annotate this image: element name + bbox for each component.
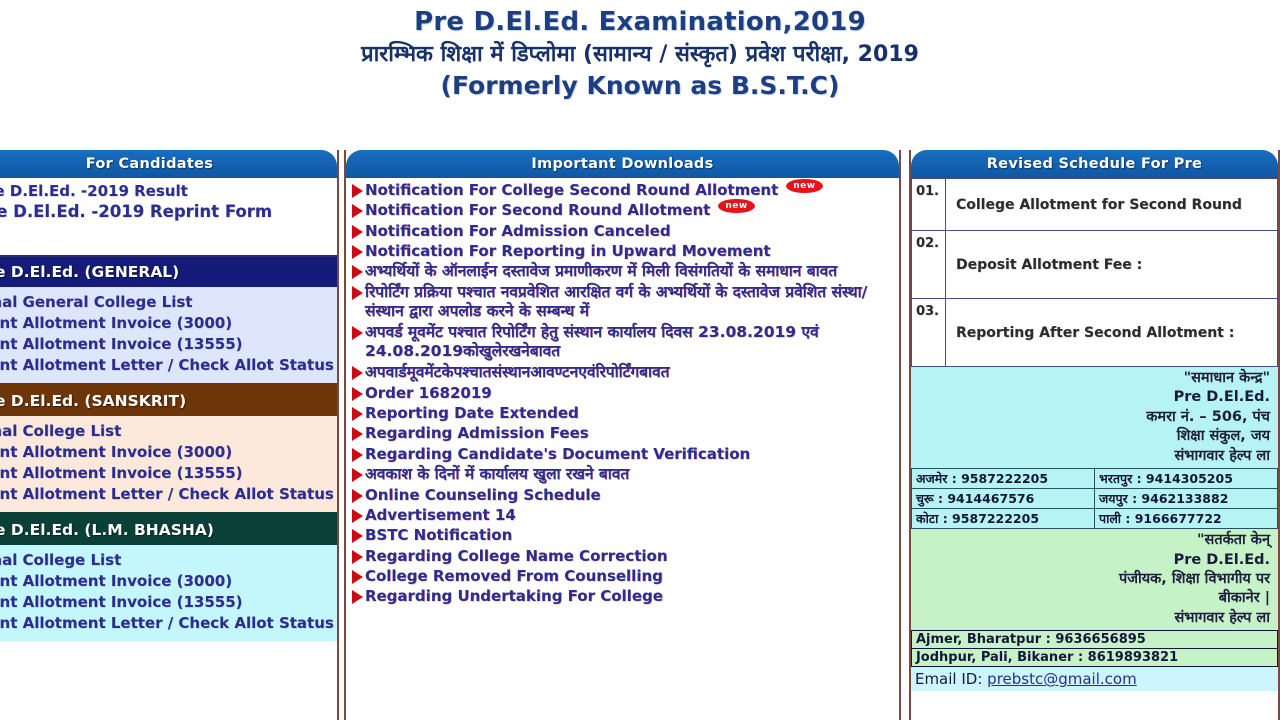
site-header: Pre D.El.Ed. Examination,2019 प्रारम्भिक…	[0, 0, 1280, 103]
list-item[interactable]: रिपोर्टिंग प्रक्रिया पश्चात नवप्रवेशित आ…	[352, 282, 899, 322]
candidate-top-links: Pre D.El.Ed. -2019 Result Pre D.El.Ed. -…	[0, 178, 337, 257]
triangle-bullet-icon	[352, 529, 363, 543]
download-link[interactable]: Online Counseling Schedule	[365, 486, 601, 504]
table-row: अजमेर : 9587222205 भरतपुर : 9414305205	[911, 469, 1277, 489]
list-item[interactable]: अवकाश के दिनों में कार्यालय खुला रखने बा…	[352, 464, 899, 485]
link-result[interactable]: Pre D.El.Ed. -2019 Result	[0, 181, 337, 201]
group-header-lm-bhasha: Pre D.El.Ed. (L.M. BHASHA)	[0, 515, 337, 545]
panel-header-revised-schedule: Revised Schedule For Pre	[911, 150, 1278, 178]
download-link[interactable]: Notification For College Second Round Al…	[365, 181, 778, 199]
list-item[interactable]: Notification For Reporting in Upward Mov…	[352, 241, 899, 261]
list-item[interactable]: Online Counseling Schedule	[352, 485, 899, 505]
schedule-table: 01. College Allotment for Second Round 0…	[911, 178, 1278, 367]
vigilance-center-exam: Pre D.El.Ed.	[915, 551, 1270, 570]
solution-center-title: "समाधान केन्द्र"	[915, 369, 1270, 388]
email-label: Email ID:	[915, 670, 982, 688]
page-title-hindi: प्रारम्भिक शिक्षा में डिप्लोमा (सामान्य …	[0, 40, 1280, 70]
helpline-cell: जयपुर : 9462133882	[1094, 489, 1277, 509]
triangle-bullet-icon	[352, 590, 363, 604]
panel-revised-schedule: Revised Schedule For Pre 01. College All…	[909, 150, 1280, 720]
list-item[interactable]: Regarding Admission Fees	[352, 423, 899, 443]
download-link[interactable]: अपवार्डमूवमेंटकेपश्चातसंस्थानआवण्टनएवंरि…	[365, 363, 670, 382]
list-item[interactable]: Notification For Admission Canceled	[352, 221, 899, 241]
page-title-english: Pre D.El.Ed. Examination,2019	[0, 6, 1280, 39]
triangle-bullet-icon	[352, 387, 363, 401]
download-link[interactable]: Notification For Reporting in Upward Mov…	[365, 242, 771, 260]
list-item[interactable]: Regarding Candidate's Document Verificat…	[352, 444, 899, 464]
solution-center-helpline-label: संभागवार हेल्प ला	[915, 447, 1270, 466]
list-item[interactable]: College Removed From Counselling	[352, 566, 899, 586]
download-link[interactable]: College Removed From Counselling	[365, 567, 663, 585]
schedule-desc: College Allotment for Second Round	[945, 179, 1277, 231]
new-badge-icon: new	[786, 179, 822, 193]
table-row: Ajmer, Bharatpur : 9636656895	[911, 631, 1277, 649]
link-sanskrit-invoice-3000[interactable]: Print Allotment Invoice (3000)	[0, 441, 337, 462]
download-link[interactable]: Regarding Undertaking For College	[365, 587, 663, 605]
triangle-bullet-icon	[352, 245, 363, 259]
triangle-bullet-icon	[352, 225, 363, 239]
triangle-bullet-icon	[352, 204, 363, 218]
vigilance-center-title: "सतर्कता केन्	[915, 531, 1270, 550]
vigilance-center-box: "सतर्कता केन् Pre D.El.Ed. पंजीयक, शिक्ष…	[911, 529, 1278, 630]
helpline-cell: पाली : 9166677722	[1094, 509, 1277, 529]
solution-center-exam: Pre D.El.Ed.	[915, 388, 1270, 407]
download-list: Notification For College Second Round Al…	[346, 178, 899, 607]
list-item[interactable]: Reporting Date Extended	[352, 403, 899, 423]
triangle-bullet-icon	[352, 427, 363, 441]
link-reprint-form[interactable]: Pre D.El.Ed. -2019 Reprint Form	[0, 201, 337, 222]
list-item[interactable]: Notification For Second Round Allotment …	[352, 200, 899, 220]
vigilance-helpline-cell: Ajmer, Bharatpur : 9636656895	[911, 631, 1277, 649]
solution-center-address: शिक्षा संकुल, जय	[915, 427, 1270, 446]
link-general-invoice-3000[interactable]: Print Allotment Invoice (3000)	[0, 312, 337, 333]
triangle-bullet-icon	[352, 407, 363, 421]
vigilance-helpline-cell: Jodhpur, Pali, Bikaner : 8619893821	[911, 649, 1277, 667]
list-item[interactable]: Regarding Undertaking For College	[352, 586, 899, 606]
helpline-cell: अजमेर : 9587222205	[911, 469, 1094, 489]
download-link[interactable]: अपवर्ड मूवमेंट पश्चात रिपोर्टिंग हेतु सं…	[365, 323, 899, 361]
download-link[interactable]: Reporting Date Extended	[365, 404, 579, 422]
link-general-college-list[interactable]: Final General College List	[0, 291, 337, 312]
list-item[interactable]: Notification For College Second Round Al…	[352, 180, 899, 200]
link-general-allotment-letter[interactable]: Print Allotment Letter / Check Allot Sta…	[0, 354, 337, 375]
triangle-bullet-icon	[352, 265, 363, 279]
list-item[interactable]: अपवर्ड मूवमेंट पश्चात रिपोर्टिंग हेतु सं…	[352, 322, 899, 362]
schedule-desc: Deposit Allotment Fee :	[945, 231, 1277, 299]
helpline-table-solution: अजमेर : 9587222205 भरतपुर : 9414305205 च…	[911, 468, 1278, 529]
download-link[interactable]: Regarding Admission Fees	[365, 424, 589, 442]
vigilance-center-helpline-label: संभागवार हेल्प ला	[915, 609, 1270, 628]
solution-center-room: कमरा नं. – 506, पंच	[915, 408, 1270, 427]
download-link[interactable]: Notification For Second Round Allotment	[365, 201, 710, 219]
triangle-bullet-icon	[352, 570, 363, 584]
download-link[interactable]: Order 1682019	[365, 384, 492, 402]
group-header-general: Pre D.El.Ed. (GENERAL)	[0, 257, 337, 287]
download-link[interactable]: BSTC Notification	[365, 526, 512, 544]
list-item[interactable]: Advertisement 14	[352, 505, 899, 525]
triangle-bullet-icon	[352, 550, 363, 564]
link-bhasha-invoice-3000[interactable]: Print Allotment Invoice (3000)	[0, 570, 337, 591]
group-header-sanskrit: Pre D.El.Ed. (SANSKRIT)	[0, 386, 337, 416]
helpline-cell: भरतपुर : 9414305205	[1094, 469, 1277, 489]
download-link[interactable]: Notification For Admission Canceled	[365, 222, 671, 240]
download-link[interactable]: Advertisement 14	[365, 506, 516, 524]
download-link[interactable]: रिपोर्टिंग प्रक्रिया पश्चात नवप्रवेशित आ…	[365, 283, 899, 321]
download-link[interactable]: अवकाश के दिनों में कार्यालय खुला रखने बा…	[365, 465, 629, 484]
list-item[interactable]: अपवार्डमूवमेंटकेपश्चातसंस्थानआवण्टनएवंरि…	[352, 362, 899, 383]
triangle-bullet-icon	[352, 448, 363, 462]
schedule-sno: 01.	[911, 179, 945, 231]
table-row: कोटा : 9587222205 पाली : 9166677722	[911, 509, 1277, 529]
group-body-general: Final General College List Print Allotme…	[0, 287, 337, 386]
columns-container: For Candidates Pre D.El.Ed. -2019 Result…	[0, 150, 1280, 720]
group-body-sanskrit: Final College List Print Allotment Invoi…	[0, 416, 337, 515]
list-item[interactable]: अभ्यर्थियों के ऑनलाईन दस्तावेज प्रमाणीकर…	[352, 261, 899, 282]
triangle-bullet-icon	[352, 468, 363, 482]
link-bhasha-allotment-letter[interactable]: Print Allotment Letter / Check Allot Sta…	[0, 612, 337, 633]
page-subtitle-formerly: (Formerly Known as B.S.T.C)	[0, 70, 1280, 103]
group-body-lm-bhasha: Final College List Print Allotment Invoi…	[0, 545, 337, 641]
page-root: Pre D.El.Ed. Examination,2019 प्रारम्भिक…	[0, 0, 1280, 720]
table-row: 03. Reporting After Second Allotment :	[911, 299, 1277, 367]
schedule-sno: 03.	[911, 299, 945, 367]
download-link[interactable]: Regarding College Name Correction	[365, 547, 668, 565]
list-item[interactable]: Regarding College Name Correction	[352, 546, 899, 566]
table-row: Jodhpur, Pali, Bikaner : 8619893821	[911, 649, 1277, 667]
schedule-sno: 02.	[911, 231, 945, 299]
download-link[interactable]: अभ्यर्थियों के ऑनलाईन दस्तावेज प्रमाणीकर…	[365, 262, 837, 281]
helpline-cell: चुरू : 9414467576	[911, 489, 1094, 509]
link-bhasha-college-list[interactable]: Final College List	[0, 549, 337, 570]
table-row: 01. College Allotment for Second Round	[911, 179, 1277, 231]
triangle-bullet-icon	[352, 509, 363, 523]
triangle-bullet-icon	[352, 326, 363, 340]
list-item[interactable]: Order 1682019	[352, 383, 899, 403]
download-link[interactable]: Regarding Candidate's Document Verificat…	[365, 445, 750, 463]
email-bar: Email ID: prebstc@gmail.com	[911, 667, 1278, 691]
vigilance-center-city: बीकानेर |	[915, 589, 1270, 608]
panel-header-for-candidates: For Candidates	[0, 150, 337, 178]
link-sanskrit-allotment-letter[interactable]: Print Allotment Letter / Check Allot Sta…	[0, 483, 337, 504]
solution-center-box: "समाधान केन्द्र" Pre D.El.Ed. कमरा नं. –…	[911, 367, 1278, 468]
panel-important-downloads: Important Downloads Notification For Col…	[344, 150, 901, 720]
list-item[interactable]: BSTC Notification	[352, 525, 899, 545]
panel-header-important-downloads: Important Downloads	[346, 150, 899, 178]
table-row: चुरू : 9414467576 जयपुर : 9462133882	[911, 489, 1277, 509]
triangle-bullet-icon	[352, 184, 363, 198]
helpline-cell: कोटा : 9587222205	[911, 509, 1094, 529]
table-row: 02. Deposit Allotment Fee :	[911, 231, 1277, 299]
triangle-bullet-icon	[352, 489, 363, 503]
link-general-invoice-13555[interactable]: Print Allotment Invoice (13555)	[0, 333, 337, 354]
link-sanskrit-invoice-13555[interactable]: Print Allotment Invoice (13555)	[0, 462, 337, 483]
email-link[interactable]: prebstc@gmail.com	[987, 670, 1137, 688]
panel-for-candidates: For Candidates Pre D.El.Ed. -2019 Result…	[0, 150, 339, 720]
link-bhasha-invoice-13555[interactable]: Print Allotment Invoice (13555)	[0, 591, 337, 612]
triangle-bullet-icon	[352, 286, 363, 300]
link-sanskrit-college-list[interactable]: Final College List	[0, 420, 337, 441]
helpline-table-vigilance: Ajmer, Bharatpur : 9636656895 Jodhpur, P…	[911, 630, 1278, 667]
schedule-desc: Reporting After Second Allotment :	[945, 299, 1277, 367]
new-badge-icon: new	[718, 199, 754, 213]
vigilance-center-authority: पंजीयक, शिक्षा विभागीय पर	[915, 570, 1270, 589]
triangle-bullet-icon	[352, 366, 363, 380]
